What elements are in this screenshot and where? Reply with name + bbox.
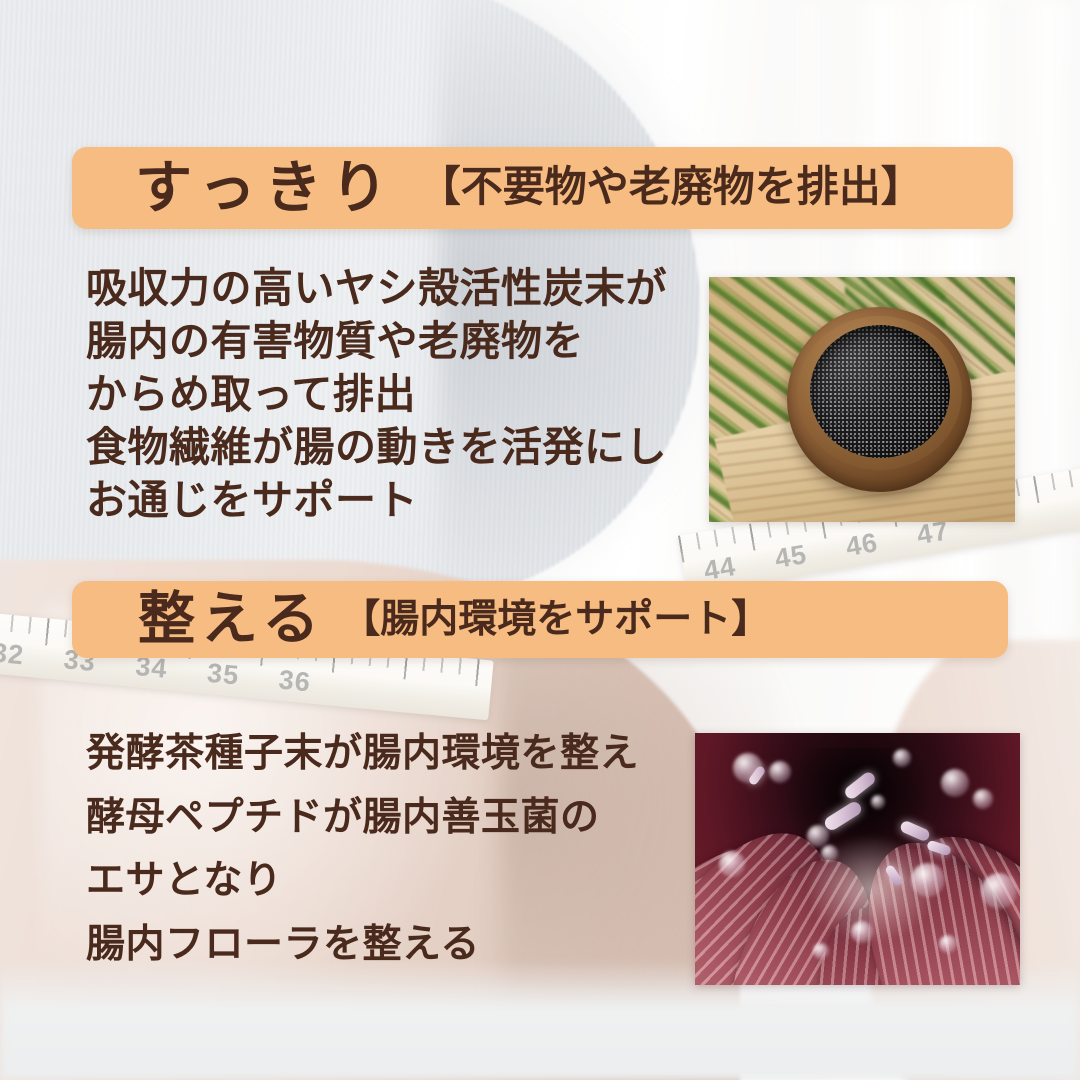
activated-charcoal-granules — [810, 325, 950, 458]
bokeh-light — [851, 921, 873, 943]
body-line: 発酵茶種子末が腸内環境を整え — [86, 722, 639, 786]
bokeh-light — [821, 845, 838, 862]
section-1-body-text: 吸収力の高いヤシ殻活性炭末が 腸内の有害物質や老廃物を からめ取って排出 食物繊… — [86, 262, 667, 526]
body-line: 腸内の有害物質や老廃物を — [86, 315, 667, 368]
bokeh-light — [981, 873, 1017, 909]
bokeh-light — [813, 943, 829, 959]
section-1-banner: すっきり 【不要物や老廃物を排出】 — [72, 147, 1013, 229]
section-1-banner-title: すっきり — [135, 160, 397, 217]
section-1-banner-subtitle: 【不要物や老廃物を排出】 — [419, 167, 923, 209]
bokeh-light — [807, 825, 829, 847]
coconut-shell-bowl — [787, 307, 972, 492]
bokeh-light — [911, 863, 945, 897]
section-2-banner-title: 整える — [138, 591, 325, 648]
bokeh-light — [733, 753, 763, 783]
body-line: 吸収力の高いヤシ殻活性炭末が — [86, 262, 667, 315]
bokeh-light — [719, 851, 745, 877]
body-line: お通じをサポート — [86, 474, 667, 527]
bokeh-light — [893, 749, 911, 767]
body-line: 食物繊維が腸の動きを活発にし — [86, 421, 667, 474]
bokeh-light — [941, 769, 969, 797]
section-2-banner: 整える 【腸内環境をサポート】 — [72, 581, 1008, 658]
bokeh-light — [871, 795, 885, 809]
intestinal-flora-villi-photo — [695, 733, 1020, 985]
body-line: エサとなり — [86, 849, 639, 913]
body-line: からめ取って排出 — [86, 368, 667, 421]
section-2-banner-subtitle: 【腸内環境をサポート】 — [341, 600, 770, 639]
section-2-body-text: 発酵茶種子末が腸内環境を整え 酵母ペプチドが腸内善玉菌の エサとなり 腸内フロー… — [86, 722, 639, 976]
body-line: 酵母ペプチドが腸内善玉菌の — [86, 786, 639, 850]
bokeh-light — [939, 935, 957, 953]
bokeh-light — [769, 761, 791, 783]
bokeh-light — [973, 789, 993, 809]
body-line: 腸内フローラを整える — [86, 913, 639, 977]
content-layer: すっきり 【不要物や老廃物を排出】 吸収力の高いヤシ殻活性炭末が 腸内の有害物質… — [0, 0, 1080, 1080]
coconut-shell-activated-charcoal-photo — [709, 277, 1015, 522]
